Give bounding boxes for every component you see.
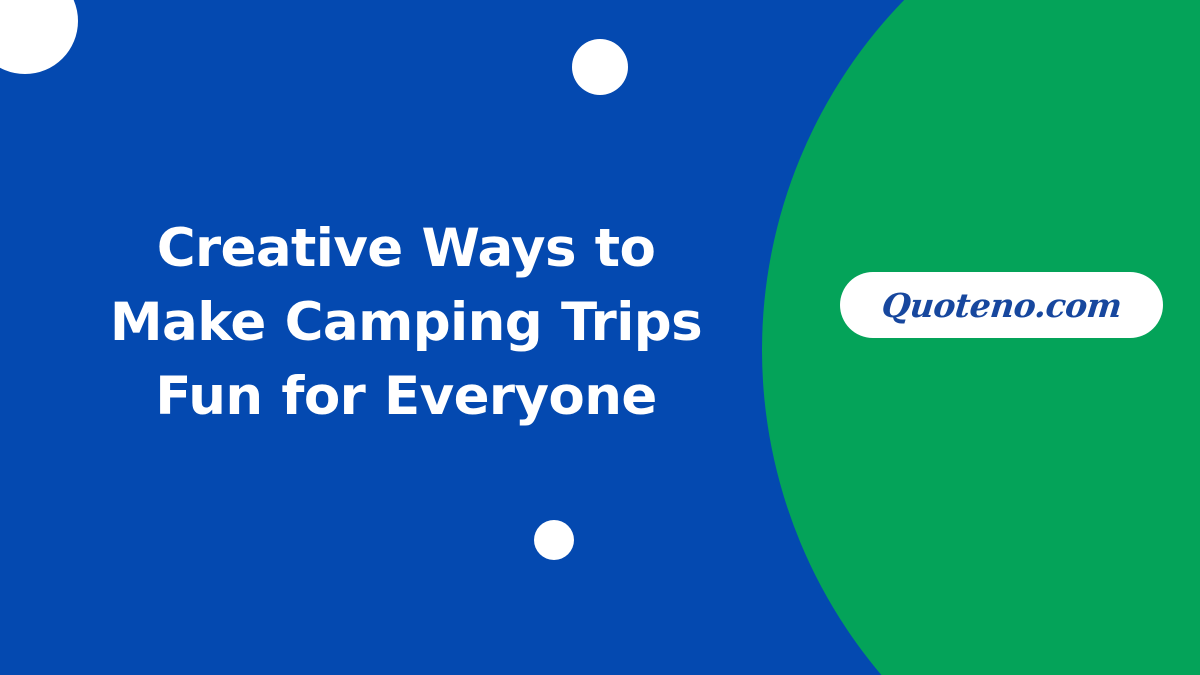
white-dot-top-left-icon [0,0,78,74]
brand-badge-label: Quoteno.com [880,286,1124,325]
poster-canvas: Creative Ways to Make Camping Trips Fun … [0,0,1200,675]
white-dot-bottom-icon [534,520,574,560]
white-dot-top-icon [572,39,628,95]
brand-badge[interactable]: Quoteno.com [840,272,1163,338]
page-title: Creative Ways to Make Camping Trips Fun … [70,212,742,434]
